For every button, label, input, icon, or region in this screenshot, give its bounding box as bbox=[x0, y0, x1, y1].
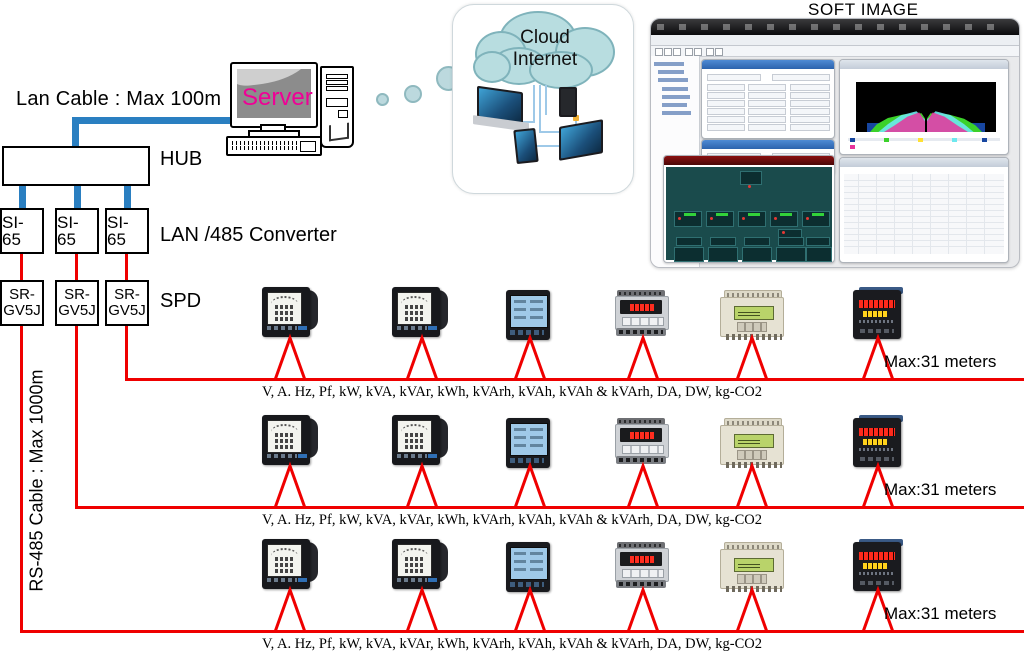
converter-label-3: SI-65 bbox=[107, 214, 147, 248]
cloud-label-line1: Cloud bbox=[473, 27, 617, 49]
network-diagram: Lan Cable : Max 100m HUB SI-65 SI-65 SI-… bbox=[0, 0, 1024, 662]
cloud-label-line2: Internet bbox=[473, 49, 617, 71]
soft-toolbar[interactable] bbox=[651, 46, 1019, 57]
smartphone-icon bbox=[513, 128, 538, 164]
hub-label: HUB bbox=[160, 148, 202, 171]
spd-label-2a: SR- bbox=[64, 287, 90, 303]
pc-tower-icon bbox=[320, 66, 354, 148]
soft-window-report[interactable] bbox=[839, 157, 1009, 263]
rs485-continuation-dash-row-1 bbox=[900, 378, 1024, 381]
meter-taps-row-2 bbox=[0, 458, 1024, 510]
converter-label-1: SI-65 bbox=[2, 214, 42, 248]
rs485-wire-conv-spd-3 bbox=[125, 254, 128, 281]
server-illustration: Server bbox=[222, 60, 352, 160]
rs485-wire-conv-spd-1 bbox=[20, 254, 23, 281]
spd-label-1b: GV5J bbox=[3, 303, 41, 319]
spd-box-2[interactable]: SR- GV5J bbox=[55, 280, 99, 326]
spd-box-1[interactable]: SR- GV5J bbox=[0, 280, 44, 326]
tablet-icon bbox=[559, 119, 603, 161]
server-label: Server bbox=[242, 84, 313, 112]
soft-window-real-time[interactable] bbox=[701, 59, 835, 139]
converter-label: LAN /485 Converter bbox=[160, 224, 337, 247]
cloud-label: Cloud Internet bbox=[473, 27, 617, 71]
max-meters-label-row-1: Max:31 meters bbox=[884, 352, 996, 372]
meter-taps-row-3 bbox=[0, 582, 1024, 634]
cloud-link-2 bbox=[539, 85, 541, 133]
graph-plot-area bbox=[856, 82, 996, 132]
rs485-continuation-dash-row-2 bbox=[900, 506, 1024, 509]
soft-image-panel: Real time Graph bbox=[650, 18, 1020, 268]
spd-label-2b: GV5J bbox=[58, 303, 96, 319]
lan-wire-converter-3 bbox=[124, 184, 131, 210]
rs485-wire-conv-spd-2 bbox=[75, 254, 78, 281]
lan-wire-server-horizontal bbox=[72, 117, 244, 124]
soft-menubar[interactable] bbox=[651, 35, 1019, 46]
rs485-continuation-dash-row-3 bbox=[900, 630, 1024, 633]
converter-box-2[interactable]: SI-65 bbox=[55, 208, 99, 254]
spd-label: SPD bbox=[160, 290, 201, 313]
keyboard-icon bbox=[226, 136, 322, 156]
spd-label-3b: GV5J bbox=[108, 303, 146, 319]
soft-titlebar bbox=[651, 19, 1019, 35]
soft-image-title: SOFT IMAGE bbox=[808, 0, 919, 20]
cloud-server-icon bbox=[559, 87, 577, 117]
bubble-small-icon bbox=[376, 93, 389, 106]
lan-wire-converter-1 bbox=[19, 184, 26, 210]
spd-label-3a: SR- bbox=[114, 287, 140, 303]
measurements-label-row-3: V, A. Hz, Pf, kW, kVA, kVAr, kWh, kVArh,… bbox=[262, 636, 762, 653]
spd-box-3[interactable]: SR- GV5J bbox=[105, 280, 149, 326]
measurements-label-row-2: V, A. Hz, Pf, kW, kVA, kVAr, kWh, kVArh,… bbox=[262, 512, 762, 529]
converter-box-3[interactable]: SI-65 bbox=[105, 208, 149, 254]
lan-wire-converter-2 bbox=[74, 184, 81, 210]
cloud-shape: Cloud Internet bbox=[473, 11, 617, 95]
cloud-link-3 bbox=[545, 85, 547, 115]
converter-box-1[interactable]: SI-65 bbox=[0, 208, 44, 254]
soft-window-skeleton[interactable] bbox=[663, 155, 835, 263]
spd-label-1a: SR- bbox=[9, 287, 35, 303]
lan-cable-label: Lan Cable : Max 100m bbox=[16, 88, 221, 111]
cloud-panel: Cloud Internet bbox=[452, 4, 634, 194]
lan-wire-hub-drop bbox=[72, 117, 79, 148]
max-meters-label-row-3: Max:31 meters bbox=[884, 604, 996, 624]
converter-label-2: SI-65 bbox=[57, 214, 97, 248]
monitor: Server bbox=[230, 62, 318, 128]
bubble-medium-icon bbox=[404, 85, 422, 103]
hub-box[interactable] bbox=[2, 146, 150, 186]
measurements-label-row-1: V, A. Hz, Pf, kW, kVA, kVAr, kWh, kVArh,… bbox=[262, 384, 762, 401]
meter-taps-row-1 bbox=[0, 330, 1024, 382]
soft-window-graph[interactable] bbox=[839, 59, 1009, 155]
cloud-link-1 bbox=[533, 85, 535, 123]
max-meters-label-row-2: Max:31 meters bbox=[884, 480, 996, 500]
